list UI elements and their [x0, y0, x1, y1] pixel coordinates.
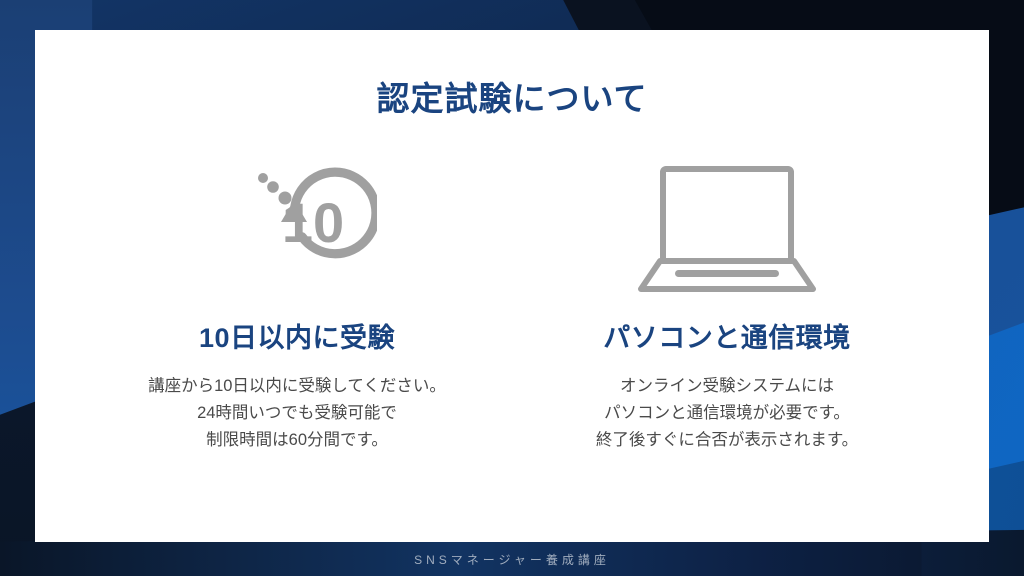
body-line: パソコンと通信環境が必要です。	[596, 400, 858, 427]
slide-title: 認定試験について	[35, 72, 989, 120]
column-heading-pc-environment: パソコンと通信環境	[603, 316, 851, 355]
column-body-exam-deadline: 講座から10日以内に受験してください。 24時間いつでも受験可能で 制限時間は6…	[148, 373, 446, 455]
body-line: 24時間いつでも受験可能で	[148, 400, 446, 427]
column-body-pc-environment: オンライン受験システムには パソコンと通信環境が必要です。 終了後すぐに合否が表…	[596, 373, 858, 455]
body-line: オンライン受験システムには	[596, 373, 858, 400]
slide-card: 認定試験について 10	[35, 30, 989, 542]
clock-icon-number: 10	[282, 191, 344, 254]
body-line: 終了後すぐに合否が表示されます。	[596, 427, 858, 454]
column-heading-exam-deadline: 10日以内に受験	[199, 316, 395, 355]
body-line: 制限時間は60分間です。	[148, 427, 446, 454]
presentation-slide: 認定試験について 10	[0, 0, 1024, 576]
clock-10-days-icon: 10	[217, 154, 377, 296]
laptop-icon	[627, 155, 827, 295]
clock-10-days-icon-box: 10	[217, 150, 377, 300]
column-exam-deadline: 10 10日以内に受験 講座から10日以内に受験してください。 24時間いつでも…	[82, 150, 512, 455]
body-line: 講座から10日以内に受験してください。	[148, 373, 446, 400]
columns-container: 10 10日以内に受験 講座から10日以内に受験してください。 24時間いつでも…	[35, 150, 989, 455]
laptop-icon-box	[627, 150, 827, 300]
slide-footer: SNSマネージャー養成講座	[0, 551, 1024, 568]
column-pc-environment: パソコンと通信環境 オンライン受験システムには パソコンと通信環境が必要です。 …	[512, 150, 942, 455]
